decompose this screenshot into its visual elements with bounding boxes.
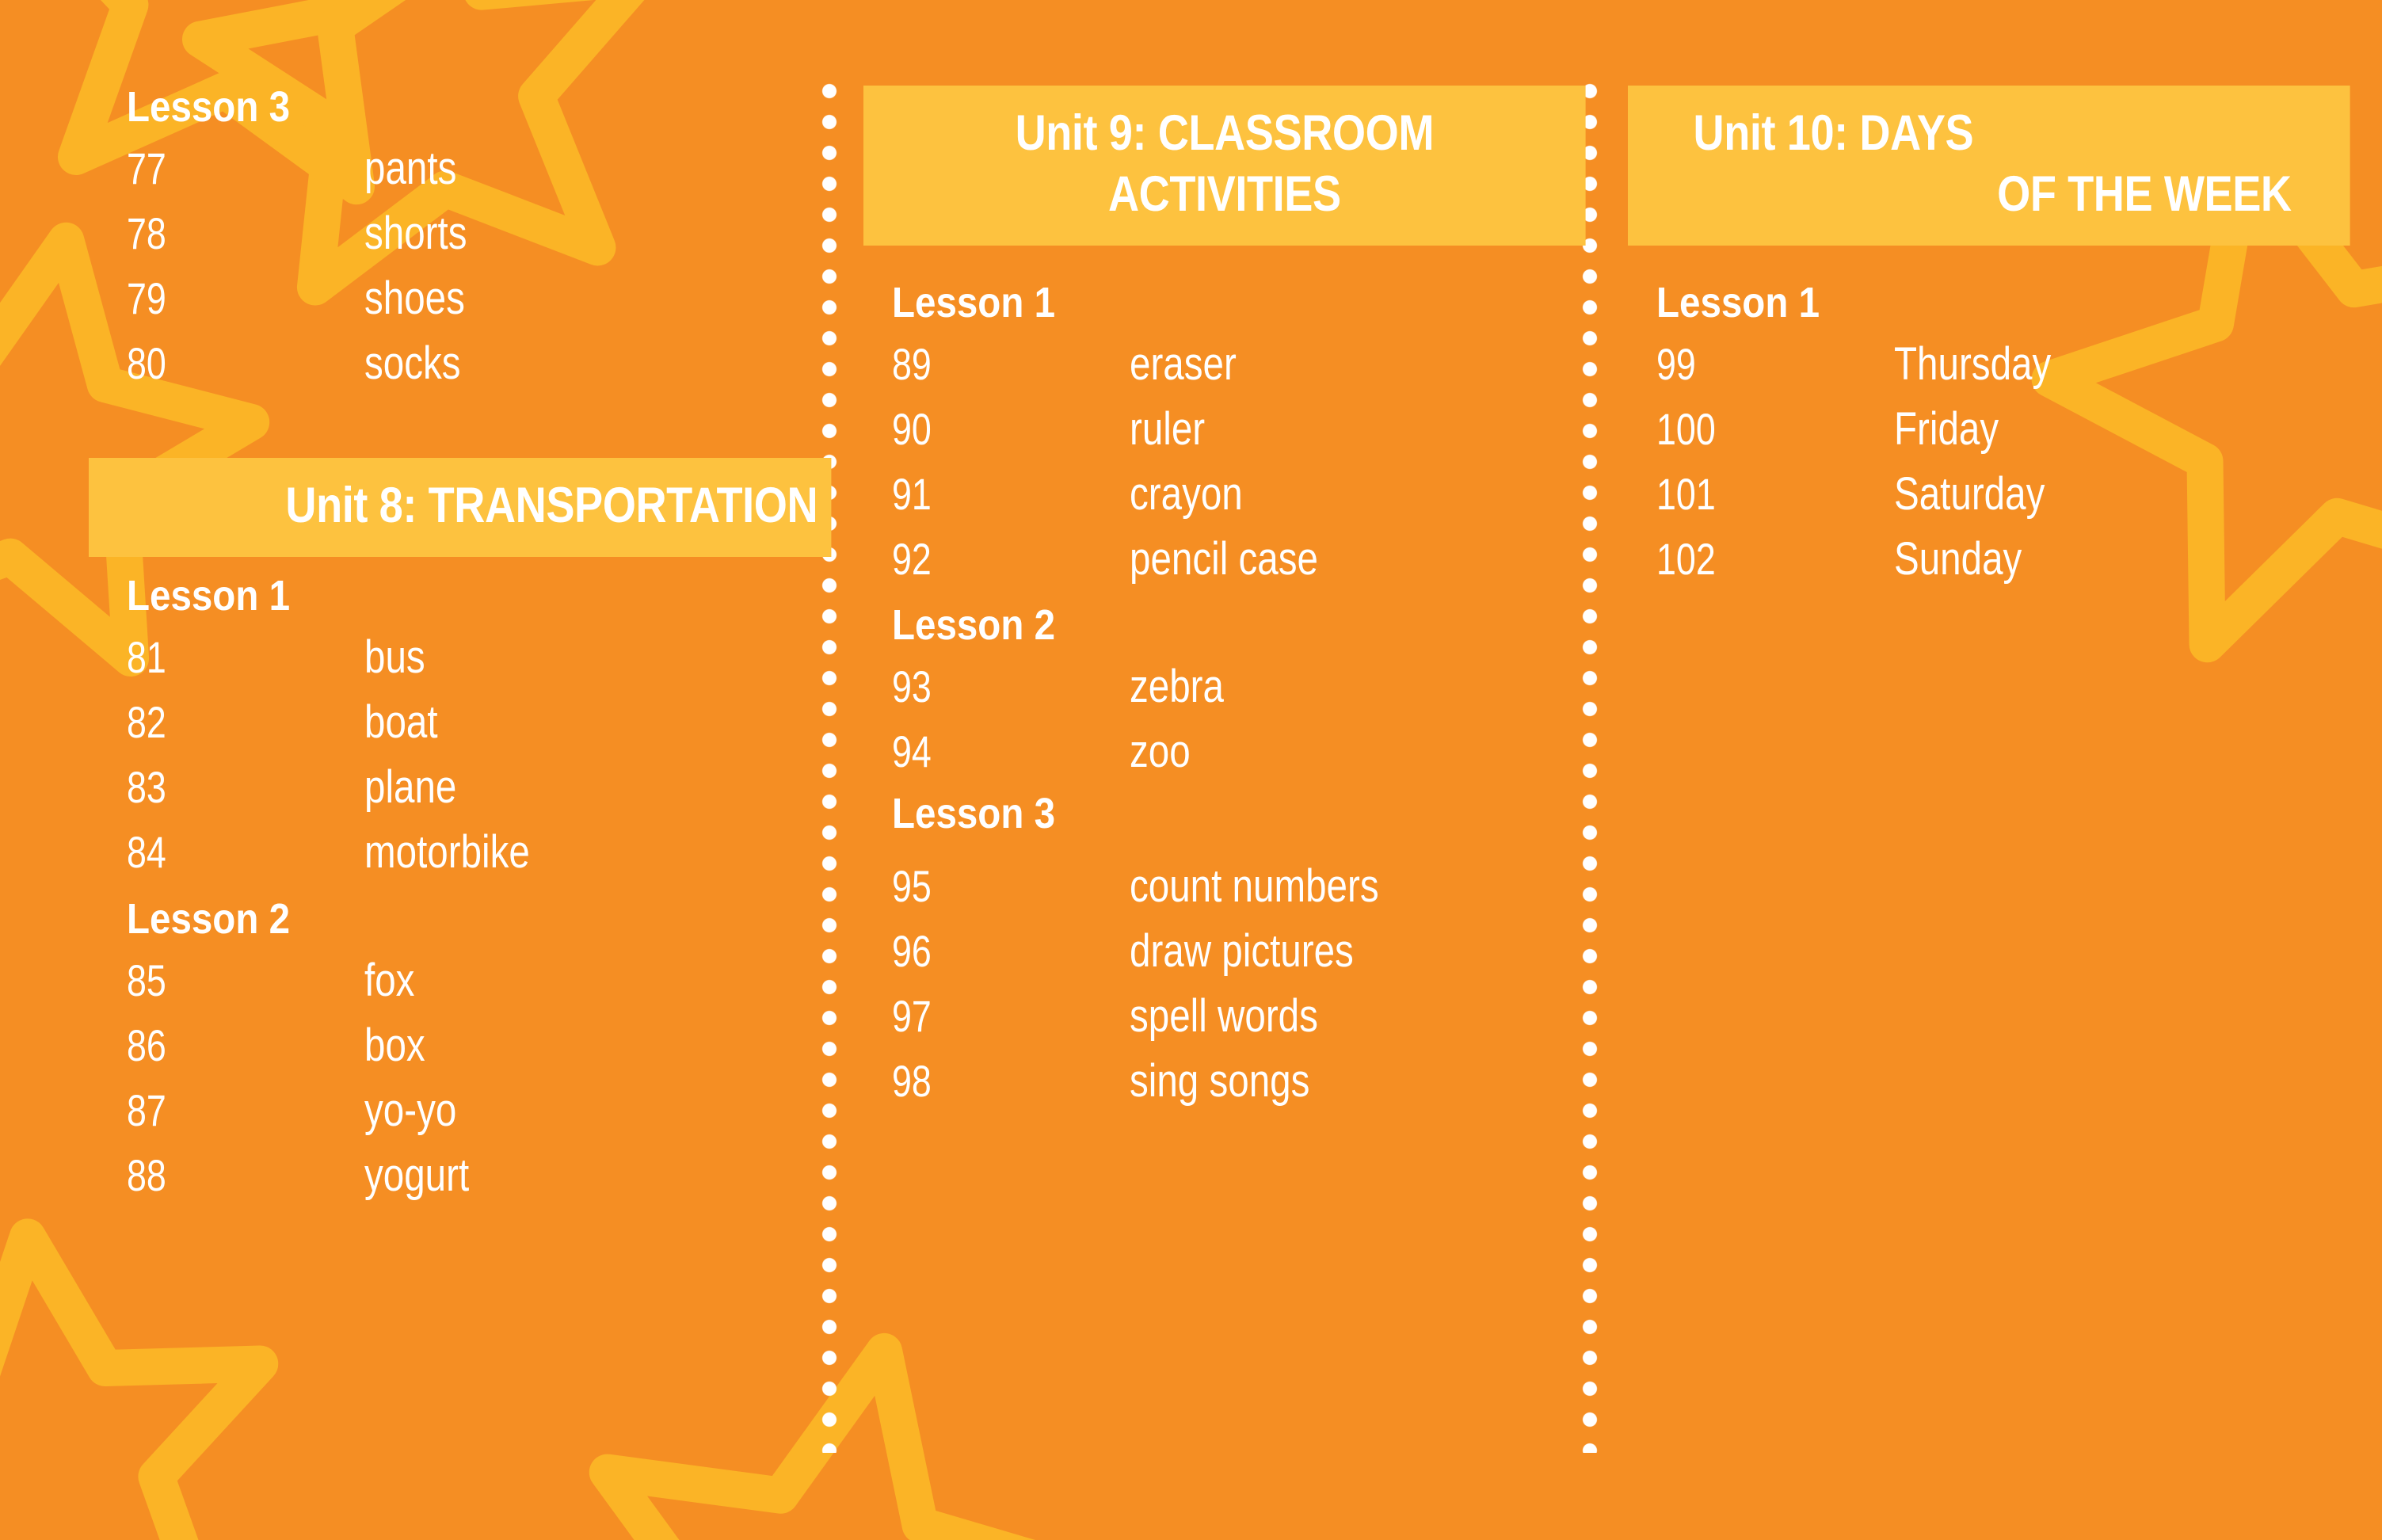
vocab-number: 82 <box>127 700 317 745</box>
vocab-word: boat <box>364 699 438 745</box>
vocab-word: socks <box>364 341 461 387</box>
vocab-number: 81 <box>127 635 317 680</box>
lesson-heading: Lesson 1 <box>127 574 513 617</box>
unit-banner-line-1: Unit 9: CLASSROOM <box>886 103 1562 164</box>
vocab-word: motorbike <box>364 829 530 875</box>
vocab-number: 94 <box>892 730 1082 774</box>
vocab-number: 101 <box>1656 472 1847 517</box>
vocab-number: 89 <box>892 342 1082 387</box>
unit-banner-line-2: OF THE WEEK <box>1651 164 2327 225</box>
vocab-word: plane <box>364 764 456 810</box>
vocab-number: 97 <box>892 994 1082 1039</box>
vocab-row[interactable]: 94 zoo <box>892 729 1244 775</box>
dotted-divider-1 <box>821 82 838 1453</box>
vocab-row[interactable]: 101 Saturday <box>1656 471 2086 517</box>
vocab-row[interactable]: 85 fox <box>127 958 492 1004</box>
column-2: Unit 9: CLASSROOM ACTIVITIES Lesson 1 89… <box>863 0 1561 1540</box>
vocab-row[interactable]: 81 bus <box>127 635 566 680</box>
column-3: Unit 10: DAYS OF THE WEEK Lesson 1 99 Th… <box>1628 0 2325 1540</box>
unit-banner-9: Unit 9: CLASSROOM ACTIVITIES <box>863 86 1586 246</box>
lesson-heading: Lesson 3 <box>892 792 1369 835</box>
vocab-word: shoes <box>364 276 465 322</box>
vocabulary-list-page: Lesson 3 77 pants 78 shorts 79 shoes 80 … <box>0 0 2382 1540</box>
unit-banner-8: Unit 8: TRANSPORTATION <box>89 458 831 557</box>
vocab-number: 87 <box>127 1088 317 1133</box>
vocab-word: shorts <box>364 211 467 257</box>
vocab-word: yogurt <box>364 1153 469 1199</box>
vocab-row[interactable]: 87 yo-yo <box>127 1088 492 1134</box>
vocab-number: 83 <box>127 765 317 810</box>
vocab-number: 90 <box>892 407 1082 452</box>
vocab-word: sing songs <box>1130 1058 1309 1104</box>
lesson-heading: Lesson 2 <box>127 898 448 940</box>
vocab-row[interactable]: 99 Thursday <box>1656 341 2086 387</box>
vocab-row[interactable]: 88 yogurt <box>127 1153 492 1199</box>
vocab-number: 93 <box>892 665 1082 709</box>
lesson-block: Lesson 3 95 count numbers 96 draw pictur… <box>892 792 1434 1104</box>
vocab-row[interactable]: 77 pants <box>127 146 490 192</box>
lesson-heading: Lesson 3 <box>127 86 446 128</box>
vocab-row[interactable]: 93 zebra <box>892 664 1244 710</box>
lesson-block: Lesson 2 85 fox 86 box 87 yo-yo 88 yogur… <box>127 898 492 1199</box>
vocab-word: Thursday <box>1894 341 2051 387</box>
vocab-number: 88 <box>127 1153 317 1198</box>
vocab-word: eraser <box>1130 341 1237 387</box>
vocab-number: 84 <box>127 830 317 875</box>
unit-banner-line-1: Unit 8: TRANSPORTATION <box>112 475 818 536</box>
vocab-word: yo-yo <box>364 1088 456 1134</box>
vocab-word: spell words <box>1130 993 1318 1039</box>
vocab-word: box <box>364 1023 425 1069</box>
vocab-number: 80 <box>127 341 317 386</box>
lesson-block: Lesson 1 81 bus 82 boat 83 plane 84 moto… <box>127 574 566 875</box>
vocab-word: fox <box>364 958 414 1004</box>
vocab-word: Friday <box>1894 406 1999 452</box>
lesson-heading: Lesson 1 <box>892 281 1303 324</box>
vocab-number: 79 <box>127 276 317 321</box>
unit-banner-line-2: ACTIVITIES <box>886 164 1562 225</box>
lesson-block: Lesson 3 77 pants 78 shorts 79 shoes 80 … <box>127 86 490 387</box>
vocab-row[interactable]: 83 plane <box>127 764 566 810</box>
vocab-word: pencil case <box>1130 536 1318 582</box>
vocab-word: zebra <box>1130 664 1224 710</box>
vocab-row[interactable]: 91 crayon <box>892 471 1359 517</box>
lesson-block: Lesson 1 89 eraser 90 ruler 91 crayon 92… <box>892 281 1359 582</box>
vocab-row[interactable]: 96 draw pictures <box>892 928 1434 974</box>
column-1: Lesson 3 77 pants 78 shorts 79 shoes 80 … <box>127 0 808 1540</box>
vocab-row[interactable]: 84 motorbike <box>127 829 566 875</box>
vocab-row[interactable]: 86 box <box>127 1023 492 1069</box>
vocab-row[interactable]: 98 sing songs <box>892 1058 1434 1104</box>
vocab-number: 102 <box>1656 537 1847 581</box>
vocab-word: count numbers <box>1130 863 1379 909</box>
vocab-number: 99 <box>1656 342 1847 387</box>
vocab-number: 78 <box>127 212 317 256</box>
vocab-word: draw pictures <box>1130 928 1354 974</box>
vocab-word: bus <box>364 635 425 680</box>
vocab-row[interactable]: 102 Sunday <box>1656 536 2086 582</box>
vocab-row[interactable]: 100 Friday <box>1656 406 2086 452</box>
vocab-word: pants <box>364 146 456 192</box>
vocab-row[interactable]: 95 count numbers <box>892 863 1434 909</box>
vocab-number: 96 <box>892 929 1082 974</box>
vocab-row[interactable]: 97 spell words <box>892 993 1434 1039</box>
unit-banner-10: Unit 10: DAYS OF THE WEEK <box>1628 86 2350 246</box>
lesson-block: Lesson 1 99 Thursday 100 Friday 101 Satu… <box>1656 281 2086 582</box>
dotted-divider-2 <box>1581 82 1599 1453</box>
vocab-word: Saturday <box>1894 471 2045 517</box>
vocab-row[interactable]: 82 boat <box>127 699 566 745</box>
unit-banner-line-1: Unit 10: DAYS <box>1651 103 2327 164</box>
vocab-row[interactable]: 80 socks <box>127 341 490 387</box>
vocab-word: Sunday <box>1894 536 2022 582</box>
vocab-number: 91 <box>892 472 1082 517</box>
vocab-row[interactable]: 79 shoes <box>127 276 490 322</box>
vocab-word: crayon <box>1130 471 1243 517</box>
vocab-row[interactable]: 90 ruler <box>892 406 1359 452</box>
vocab-row[interactable]: 78 shorts <box>127 211 490 257</box>
vocab-row[interactable]: 92 pencil case <box>892 536 1359 582</box>
lesson-block: Lesson 2 93 zebra 94 zoo <box>892 604 1244 775</box>
vocab-number: 77 <box>127 147 317 191</box>
vocab-number: 95 <box>892 864 1082 909</box>
vocab-number: 85 <box>127 959 317 1003</box>
vocab-number: 98 <box>892 1059 1082 1104</box>
vocab-row[interactable]: 89 eraser <box>892 341 1359 387</box>
vocab-word: zoo <box>1130 729 1191 775</box>
vocab-number: 100 <box>1656 407 1847 452</box>
lesson-heading: Lesson 2 <box>892 604 1202 646</box>
vocab-number: 86 <box>127 1023 317 1068</box>
lesson-heading: Lesson 1 <box>1656 281 2034 324</box>
vocab-word: ruler <box>1130 406 1205 452</box>
vocab-number: 92 <box>892 537 1082 581</box>
